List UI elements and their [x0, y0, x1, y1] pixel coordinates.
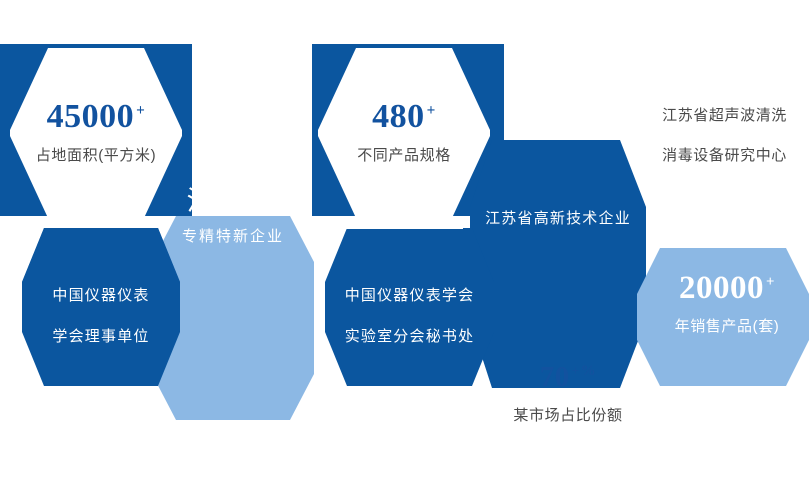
badge-research-center: 江苏省超声波清洗 消毒设备研究中心 — [640, 108, 809, 163]
stat-specs-value: 480 — [372, 98, 425, 135]
stat-annual-sales-suffix: + — [766, 274, 775, 290]
infographic-canvas: 45000+ 占地面积(平方米) 480+ 不同产品规格 江苏省 专精特新企业 … — [0, 0, 809, 487]
badge-specialized-line1: 江苏省 — [152, 188, 314, 215]
stat-annual-sales-value: 20000 — [679, 270, 764, 306]
badge-council-member-line2: 学会理事单位 — [22, 329, 180, 344]
stat-area-value-row: 45000+ — [10, 100, 182, 134]
badge-high-tech: 江苏省高新技术企业 — [470, 211, 646, 226]
shape-layer — [0, 0, 809, 487]
badge-research-center-line2: 消毒设备研究中心 — [640, 148, 809, 163]
badge-council-member: 中国仪器仪表 学会理事单位 — [22, 288, 180, 344]
stat-specs-value-row: 480+ — [318, 100, 490, 134]
stat-annual-sales: 20000+ 年销售产品(套) — [645, 272, 809, 334]
stat-specs-label: 不同产品规格 — [318, 148, 490, 163]
stat-area-value: 45000 — [47, 98, 135, 135]
badge-high-tech-line1: 江苏省高新技术企业 — [470, 211, 646, 226]
badge-lab-secretariat-line1: 中国仪器仪表学会 — [325, 288, 494, 303]
stat-market-share-value: 70 — [540, 361, 570, 393]
badge-specialized-line2: 专精特新企业 — [152, 229, 314, 244]
shape-white-notch-separator — [345, 218, 463, 229]
stat-specs: 480+ 不同产品规格 — [318, 100, 490, 163]
badge-specialized: 江苏省 专精特新企业 — [152, 188, 314, 244]
stat-area-suffix: + — [136, 102, 145, 119]
shape-white-tick — [455, 217, 469, 227]
stat-specs-suffix: + — [427, 102, 436, 119]
stat-market-share: 70+% 某市场占比份额 — [478, 363, 658, 423]
badge-lab-secretariat-line2: 实验室分会秘书处 — [325, 329, 494, 344]
stat-market-share-unit: % — [581, 363, 597, 379]
shape-dark-hex-hightech — [470, 140, 646, 388]
badge-lab-secretariat: 中国仪器仪表学会 实验室分会秘书处 — [325, 288, 494, 344]
stat-area: 45000+ 占地面积(平方米) — [10, 100, 182, 163]
stat-market-share-label: 某市场占比份额 — [478, 408, 658, 423]
stat-annual-sales-label: 年销售产品(套) — [645, 319, 809, 334]
stat-market-share-value-row: 70+% — [478, 363, 658, 392]
badge-council-member-line1: 中国仪器仪表 — [22, 288, 180, 303]
stat-area-label: 占地面积(平方米) — [10, 148, 182, 163]
stat-annual-sales-value-row: 20000+ — [645, 272, 809, 305]
badge-research-center-line1: 江苏省超声波清洗 — [640, 108, 809, 123]
stat-market-share-suffix: + — [572, 363, 580, 378]
